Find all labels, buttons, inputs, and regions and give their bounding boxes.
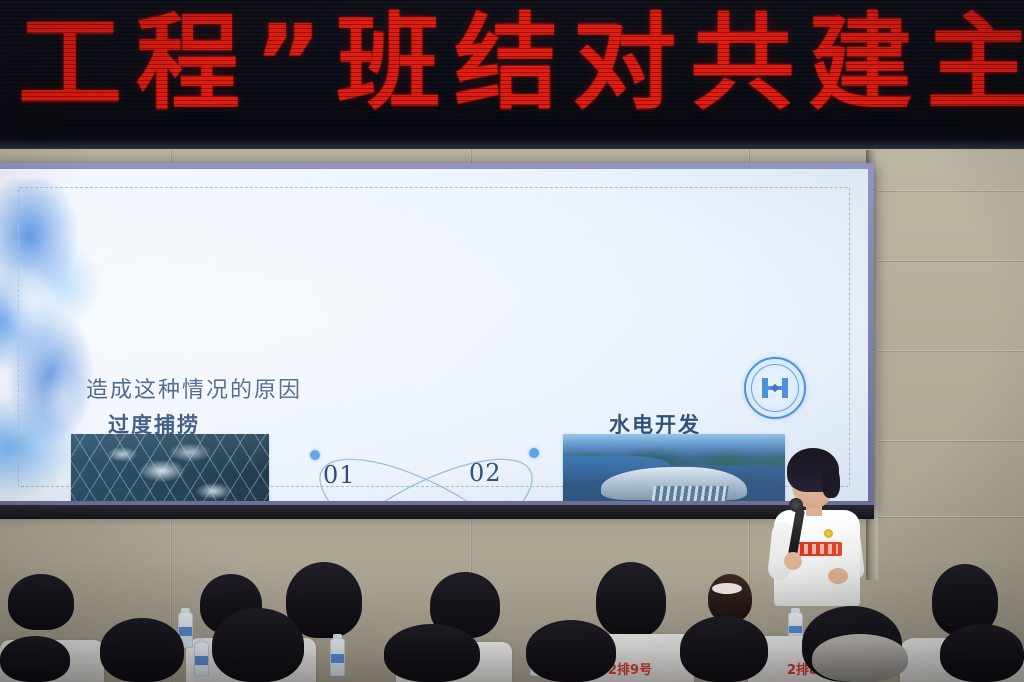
audience-head xyxy=(8,574,74,630)
university-seal-logo xyxy=(744,357,806,419)
wall-right-column xyxy=(878,150,1024,580)
projection-screen: 造成这种情况的原因 过度捕捞 生存环境的变化 水电开发 保护意识的欠缺 xyxy=(0,169,868,501)
audience-head xyxy=(100,618,184,682)
water-bottle xyxy=(194,642,209,676)
crossing-ellipses-diagram: 01 02 03 04 xyxy=(291,441,561,501)
hydro-dam-photo xyxy=(563,434,785,501)
bottle-label xyxy=(179,627,192,636)
audience-head xyxy=(384,624,480,682)
projection-screen-frame: 造成这种情况的原因 过度捕捞 生存环境的变化 水电开发 保护意识的欠缺 xyxy=(0,163,874,511)
diagram-dot-right xyxy=(529,448,539,458)
banner-shadow xyxy=(0,131,1024,149)
bottle-cap xyxy=(333,634,342,639)
bottle-cap xyxy=(791,608,800,613)
audience-head xyxy=(0,636,70,682)
audience-head xyxy=(596,562,666,638)
audience-head xyxy=(212,608,304,682)
bottle-label xyxy=(195,656,208,664)
hair-bun-tie xyxy=(712,583,742,594)
audience-head xyxy=(940,624,1024,682)
bottle-cap xyxy=(197,638,206,643)
screen-bottom-bar xyxy=(0,505,874,519)
microphone-head xyxy=(789,498,803,512)
audience-head xyxy=(526,620,616,682)
presentation-slide: 造成这种情况的原因 过度捕捞 生存环境的变化 水电开发 保护意识的欠缺 xyxy=(0,169,868,501)
audience-head xyxy=(708,574,752,622)
audience-head xyxy=(812,634,908,682)
fishing-net-photo xyxy=(71,434,269,501)
spillway-gates xyxy=(650,486,729,501)
audience-head xyxy=(680,616,768,682)
led-banner: 工程”班结对共建主题 xyxy=(0,0,1024,140)
audience-area: 2排9号 2排9号 2排8号 xyxy=(0,560,1024,682)
shirt-badge xyxy=(824,529,833,538)
bottle-cap xyxy=(181,608,190,613)
diagram-dot-left xyxy=(310,450,320,460)
slide-title: 造成这种情况的原因 xyxy=(86,372,302,404)
presenter-hair-back xyxy=(822,468,840,498)
diagram-number-02: 02 xyxy=(469,459,502,487)
diagram-number-01: 01 xyxy=(323,461,356,489)
net-mesh-overlay xyxy=(71,434,269,501)
bottle-label xyxy=(789,626,802,634)
bottle-label xyxy=(331,654,344,663)
banner-text: 工程”班结对共建主题 xyxy=(18,4,1024,122)
water-bottle xyxy=(330,638,345,676)
conference-room-photo: 造成这种情况的原因 过度捕捞 生存环境的变化 水电开发 保护意识的欠缺 xyxy=(0,0,1024,682)
